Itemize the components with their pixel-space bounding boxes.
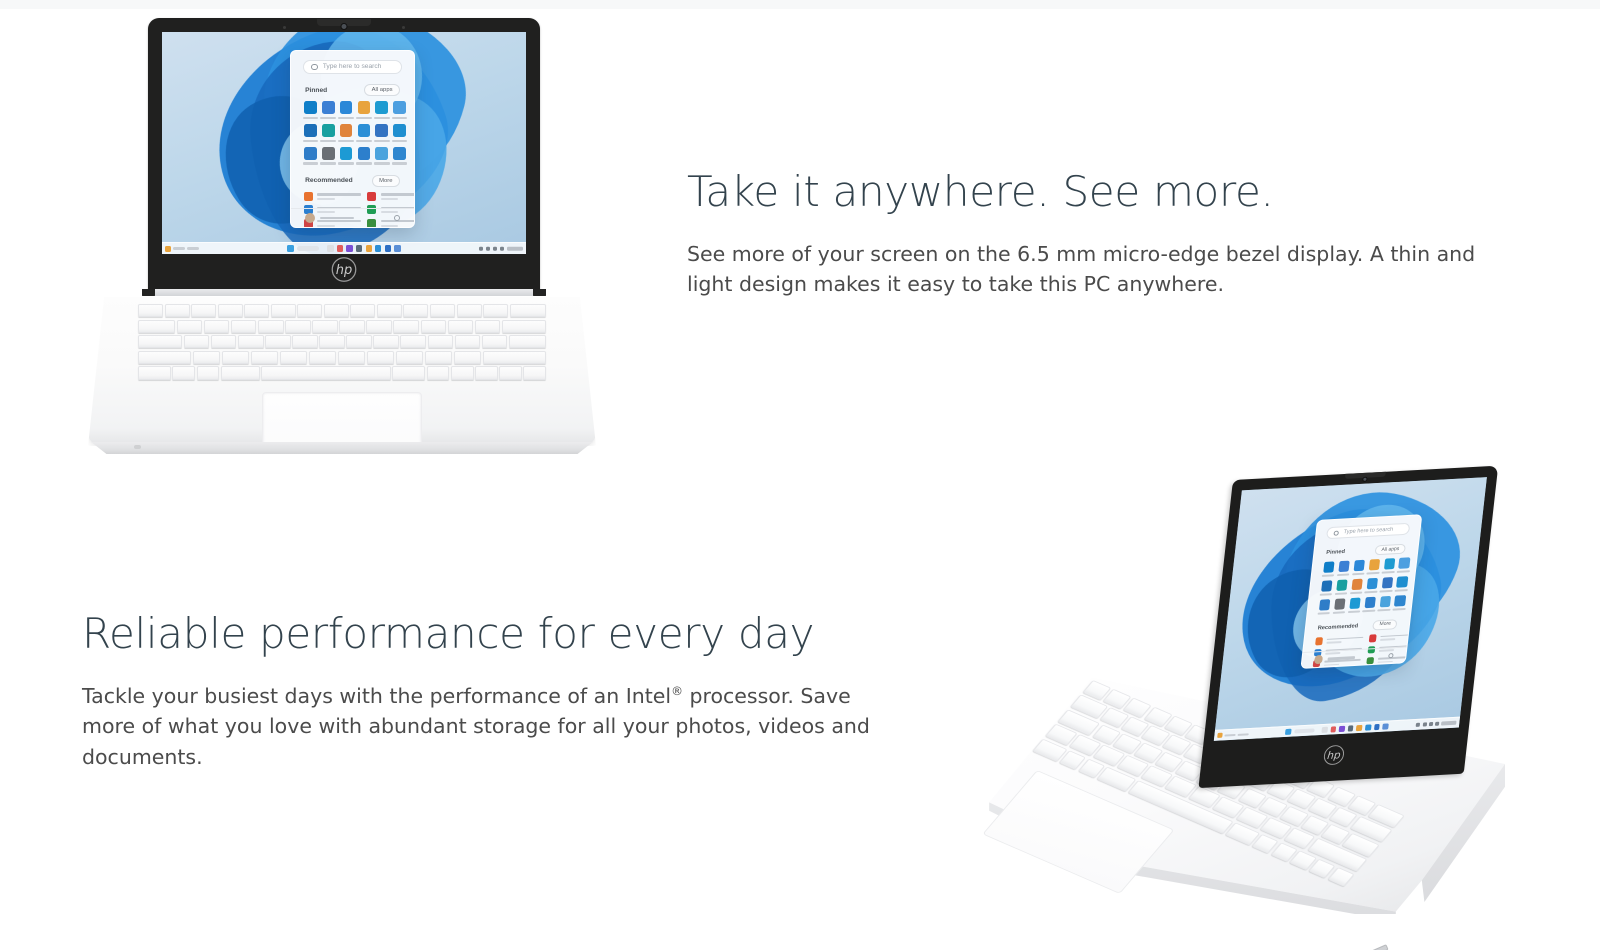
pinned-app-item[interactable] [356, 101, 371, 119]
app-icon [340, 101, 353, 114]
pinned-app-item[interactable] [303, 147, 318, 165]
search-input[interactable]: Type here to search [1326, 523, 1411, 539]
keyboard-key [430, 304, 455, 317]
app-icon [1394, 596, 1406, 607]
laptop-base-front-edge [86, 442, 598, 454]
app-label [320, 140, 335, 142]
system-tray-icon[interactable] [1429, 722, 1434, 726]
laptop-indicator-light [134, 445, 141, 449]
webcam-icon [1362, 477, 1368, 482]
weather-widget[interactable] [1225, 734, 1236, 736]
pinned-app-item[interactable] [374, 101, 389, 119]
app-label [1393, 608, 1406, 611]
taskbar-app-icon[interactable] [1321, 727, 1327, 733]
app-label [374, 117, 389, 119]
weather-widget[interactable] [187, 247, 199, 249]
app-icon [340, 147, 353, 160]
keyboard-key [346, 335, 371, 348]
laptop-screen: Type here to searchPinnedAll appsRecomme… [162, 32, 526, 254]
hdmi-port-icon [1369, 944, 1389, 950]
pinned-app-item[interactable] [1321, 562, 1336, 577]
taskbar-search-pill[interactable] [297, 246, 320, 251]
system-tray [479, 246, 523, 251]
taskbar-app-icon[interactable] [337, 245, 343, 251]
app-icon [1399, 558, 1411, 569]
app-icon [375, 147, 388, 160]
keyboard-key [483, 351, 546, 364]
laptop-keyboard [138, 304, 546, 386]
file-icon [304, 192, 313, 201]
keyboard-key [292, 335, 317, 348]
app-icon [1323, 562, 1335, 573]
file-meta [1380, 638, 1395, 641]
taskbar-widgets [165, 246, 199, 252]
recommended-item-text [317, 193, 361, 199]
keyboard-key [400, 335, 425, 348]
pinned-app-item[interactable] [392, 147, 407, 165]
keyboard-key [475, 366, 498, 379]
keyboard-key [138, 304, 163, 317]
keyboard-key [297, 304, 322, 317]
file-name [381, 193, 415, 195]
app-icon [1381, 577, 1393, 588]
app-label [1382, 571, 1395, 574]
system-tray-icon[interactable] [500, 246, 505, 251]
keyboard-key [138, 320, 175, 333]
file-meta [317, 198, 335, 200]
keyboard-key [373, 335, 398, 348]
keyboard-key [138, 366, 171, 379]
taskbar-app-icon[interactable] [375, 245, 381, 251]
pinned-app-item[interactable] [1380, 577, 1395, 592]
keyboard-key [457, 304, 482, 317]
clock[interactable] [1441, 721, 1456, 726]
keyboard-key [265, 335, 290, 348]
app-label [356, 162, 371, 164]
keyboard-row [138, 366, 546, 379]
microphone-icon [402, 26, 405, 29]
keyboard-row [138, 304, 546, 317]
app-label [1347, 611, 1360, 614]
pinned-app-item[interactable] [1350, 579, 1365, 594]
keyboard-key [193, 351, 220, 364]
taskbar-app-icon[interactable] [1285, 729, 1291, 735]
search-placeholder: Type here to search [1343, 527, 1393, 536]
pinned-app-item[interactable] [1332, 599, 1347, 614]
app-icon [375, 101, 388, 114]
section-reliable-performance: Reliable performance for every day Tackl… [82, 610, 912, 772]
keyboard-key [271, 304, 296, 317]
recommended-item[interactable] [367, 192, 415, 201]
pinned-app-item[interactable] [1347, 598, 1362, 613]
pinned-app-item[interactable] [392, 101, 407, 119]
app-icon [1349, 598, 1361, 609]
app-label [1367, 572, 1380, 575]
weather-widget[interactable] [173, 247, 185, 249]
app-icon [1338, 561, 1350, 572]
system-tray-icon[interactable] [479, 246, 484, 251]
file-name [1327, 636, 1364, 640]
user-name [320, 217, 353, 220]
keyboard-key [509, 335, 546, 348]
power-icon[interactable] [1388, 653, 1394, 659]
app-label [338, 140, 353, 142]
search-placeholder: Type here to search [323, 63, 382, 70]
hp-laptop-front-image: Type here to searchPinnedAll appsRecomme… [86, 4, 598, 459]
app-icon [1351, 579, 1363, 590]
keyboard-key [231, 320, 256, 333]
app-label [1365, 591, 1378, 594]
app-icon [322, 101, 335, 114]
start-menu: Type here to searchPinnedAll appsRecomme… [290, 50, 415, 228]
taskbar-widgets [1217, 731, 1249, 738]
keyboard-key [366, 320, 391, 333]
start-menu-section-header: RecommendedMore [305, 175, 400, 187]
app-label [1397, 570, 1410, 573]
keyboard-key [510, 304, 546, 317]
keyboard-key [448, 320, 473, 333]
taskbar-app-icon[interactable] [287, 245, 293, 251]
svg-text:hp: hp [1327, 749, 1342, 762]
app-label [1380, 590, 1393, 593]
pinned-app-item[interactable] [338, 147, 353, 165]
app-icon [304, 101, 317, 114]
taskbar-search-pill[interactable] [1294, 728, 1315, 734]
app-icon [304, 124, 317, 137]
pinned-app-item[interactable] [374, 124, 389, 142]
pinned-app-item[interactable] [1378, 596, 1393, 611]
keyboard-key [324, 304, 349, 317]
start-menu: Type here to searchPinnedAll appsRecomme… [1300, 514, 1422, 669]
app-label [392, 117, 407, 119]
app-label [1336, 574, 1349, 577]
search-icon [1333, 530, 1339, 536]
app-icon [1366, 578, 1378, 589]
registered-trademark-mark: ® [671, 684, 683, 698]
hp-logo: hp [332, 257, 357, 282]
keyboard-key [502, 320, 546, 333]
app-icon [393, 101, 406, 114]
pinned-app-item[interactable] [303, 124, 318, 142]
pinned-app-item[interactable] [1382, 559, 1397, 574]
app-label [1363, 610, 1376, 613]
system-tray-icon[interactable] [486, 246, 491, 251]
keyboard-key [454, 351, 481, 364]
body-text-prefix: Tackle your busiest days with the perfor… [82, 684, 671, 708]
app-icon [1336, 580, 1348, 591]
app-icon [322, 147, 335, 160]
file-meta [1326, 641, 1341, 644]
keyboard-key [392, 366, 425, 379]
taskbar-app-icon[interactable] [1347, 725, 1353, 731]
keyboard-key [428, 335, 453, 348]
pinned-app-item[interactable] [392, 124, 407, 142]
pinned-app-item[interactable] [1365, 578, 1380, 593]
keyboard-key [138, 351, 191, 364]
keyboard-key [451, 366, 474, 379]
taskbar-app-icon[interactable] [1365, 725, 1371, 731]
keyboard-key [396, 351, 423, 364]
keyboard-key [222, 351, 249, 364]
keyboard-key [350, 304, 375, 317]
app-icon [358, 147, 371, 160]
power-icon[interactable] [394, 215, 400, 221]
app-label [1350, 592, 1363, 595]
keyboard-row [138, 320, 546, 333]
app-label [303, 162, 318, 164]
laptop-ports [1303, 924, 1439, 950]
taskbar-icons [1285, 724, 1389, 735]
taskbar-app-icon[interactable] [1374, 724, 1380, 730]
taskbar-app-icon[interactable] [394, 245, 400, 251]
pinned-app-item[interactable] [1397, 558, 1412, 573]
pinned-app-item[interactable] [1317, 600, 1332, 615]
app-label [392, 162, 407, 164]
pinned-app-item[interactable] [1395, 577, 1410, 592]
system-tray [1416, 721, 1457, 727]
keyboard-key [251, 351, 278, 364]
svg-text:hp: hp [336, 263, 353, 278]
app-label [1319, 593, 1332, 596]
app-label [320, 117, 335, 119]
start-menu-section-header: PinnedAll apps [1326, 544, 1407, 559]
app-label [356, 117, 371, 119]
taskbar-app-icon[interactable] [385, 245, 391, 251]
pinned-app-item[interactable] [1334, 580, 1349, 595]
more-button[interactable]: More [372, 175, 400, 187]
system-tray-icon[interactable] [1435, 722, 1440, 726]
keyboard-key [427, 366, 450, 379]
product-feature-page: Type here to searchPinnedAll appsRecomme… [0, 0, 1600, 950]
weather-widget[interactable] [1217, 733, 1223, 739]
page-title: Take it anywhere. See more. [687, 168, 1507, 215]
laptop-lid: Type here to searchPinnedAll appsRecomme… [1191, 466, 1499, 858]
taskbar [162, 242, 526, 254]
pinned-app-item[interactable] [338, 101, 353, 119]
file-icon [1368, 635, 1376, 643]
app-label [303, 117, 318, 119]
weather-widget[interactable] [165, 246, 171, 252]
recommended-label: Recommended [305, 177, 353, 184]
app-icon [1321, 581, 1333, 592]
pinned-app-item[interactable] [1319, 581, 1334, 596]
app-label [338, 117, 353, 119]
pinned-app-item[interactable] [1367, 559, 1382, 574]
keyboard-key [244, 304, 269, 317]
windows-desktop: Type here to searchPinnedAll appsRecomme… [1214, 477, 1487, 741]
recommended-item[interactable] [304, 192, 361, 201]
keyboard-key [258, 320, 283, 333]
app-icon [375, 124, 388, 137]
keyboard-row [138, 335, 546, 348]
pinned-label: Pinned [305, 87, 327, 94]
pinned-label: Pinned [1326, 549, 1345, 556]
taskbar-app-icon[interactable] [1356, 725, 1362, 731]
pinned-app-item[interactable] [374, 147, 389, 165]
keyboard-key [172, 366, 195, 379]
keyboard-key [280, 351, 307, 364]
start-menu-section-header: RecommendedMore [1317, 619, 1398, 634]
start-menu-section-header: PinnedAll apps [305, 84, 400, 96]
taskbar-app-icon[interactable] [366, 245, 372, 251]
app-label [1321, 575, 1334, 578]
app-label [1352, 573, 1365, 576]
keyboard-key [191, 304, 216, 317]
keyboard-key [211, 335, 236, 348]
app-icon [1319, 600, 1331, 611]
app-icon [1334, 599, 1346, 610]
app-label [374, 140, 389, 142]
keyboard-key [523, 366, 546, 379]
section-take-it-anywhere: Take it anywhere. See more. See more of … [687, 168, 1507, 300]
keyboard-key [197, 366, 220, 379]
app-icon [1396, 577, 1408, 588]
all-apps-button[interactable]: All apps [1375, 544, 1407, 556]
pinned-app-item[interactable] [338, 124, 353, 142]
taskbar [1214, 717, 1460, 741]
pinned-app-item[interactable] [320, 147, 335, 165]
app-label [392, 140, 407, 142]
keyboard-key [238, 335, 263, 348]
app-icon [1379, 596, 1391, 607]
keyboard-key [425, 351, 452, 364]
user-name [1327, 656, 1355, 660]
user-account-row[interactable] [291, 208, 414, 227]
all-apps-button[interactable]: All apps [364, 84, 400, 96]
app-label [1317, 612, 1330, 615]
pinned-apps-grid [303, 101, 403, 164]
search-input[interactable]: Type here to search [303, 60, 403, 74]
app-icon [1368, 559, 1380, 570]
app-icon [358, 124, 371, 137]
keyboard-key [184, 335, 209, 348]
more-button[interactable]: More [1372, 619, 1397, 631]
hp-laptop-angled-image: Type here to searchPinnedAll appsRecomme… [985, 478, 1515, 913]
windows-desktop: Type here to searchPinnedAll appsRecomme… [162, 32, 526, 254]
pinned-app-item[interactable] [356, 124, 371, 142]
keyboard-row [138, 351, 546, 364]
app-icon [358, 101, 371, 114]
app-label [338, 162, 353, 164]
keyboard-key [367, 351, 394, 364]
keyboard-key [204, 320, 229, 333]
keyboard-key [482, 335, 507, 348]
clock[interactable] [507, 246, 524, 251]
app-label [1334, 593, 1347, 596]
file-meta [381, 198, 399, 200]
keyboard-key [455, 335, 480, 348]
app-label [356, 140, 371, 142]
microphone-icon [283, 26, 286, 29]
pinned-app-item[interactable] [320, 101, 335, 119]
pinned-app-item[interactable] [1336, 561, 1351, 576]
taskbar-app-icon[interactable] [346, 245, 352, 251]
keyboard-key [475, 320, 500, 333]
app-icon [1364, 597, 1376, 608]
recommended-item-text [381, 193, 415, 199]
app-icon [393, 147, 406, 160]
system-tray-icon[interactable] [1422, 722, 1427, 726]
app-label [1395, 589, 1408, 592]
app-icon [340, 124, 353, 137]
pinned-app-item[interactable] [303, 101, 318, 119]
keyboard-key [221, 366, 260, 379]
file-icon [367, 192, 376, 201]
recommended-label: Recommended [1317, 623, 1358, 631]
keyboard-key [483, 304, 508, 317]
laptop-lid: Type here to searchPinnedAll appsRecomme… [148, 18, 540, 293]
app-icon [1353, 560, 1365, 571]
file-name [317, 193, 361, 195]
laptop-screen: Type here to searchPinnedAll appsRecomme… [1214, 477, 1487, 741]
webcam-icon [341, 23, 348, 30]
pinned-apps-grid [1317, 558, 1407, 615]
keyboard-key [338, 351, 365, 364]
taskbar-app-icon[interactable] [1330, 726, 1336, 732]
keyboard-key [261, 366, 390, 379]
section-body-text: Tackle your busiest days with the perfor… [82, 681, 897, 772]
keyboard-key [339, 320, 364, 333]
taskbar-app-icon[interactable] [1382, 724, 1388, 730]
keyboard-key [165, 304, 190, 317]
keyboard-key [393, 320, 418, 333]
pinned-app-item[interactable] [1363, 597, 1378, 612]
app-label [374, 162, 389, 164]
keyboard-key [319, 335, 344, 348]
keyboard-key [177, 320, 202, 333]
app-icon [322, 124, 335, 137]
pinned-app-item[interactable] [356, 147, 371, 165]
system-tray-icon[interactable] [493, 246, 498, 251]
pinned-app-item[interactable] [320, 124, 335, 142]
search-icon [311, 64, 317, 70]
app-icon [1383, 559, 1395, 570]
recommended-item-text [1326, 636, 1363, 643]
app-label [303, 140, 318, 142]
keyboard-key [309, 351, 336, 364]
avatar [305, 213, 315, 223]
taskbar-app-icon[interactable] [327, 245, 333, 251]
app-label [1332, 611, 1345, 614]
taskbar-app-icon[interactable] [1339, 726, 1345, 732]
keyboard-key [377, 304, 402, 317]
section-body-text: See more of your screen on the 6.5 mm mi… [687, 239, 1499, 300]
page-title: Reliable performance for every day [82, 610, 912, 657]
system-tray-icon[interactable] [1416, 723, 1421, 727]
file-icon [1315, 638, 1323, 646]
keyboard-key [499, 366, 522, 379]
avatar [1314, 655, 1324, 664]
pinned-app-item[interactable] [1352, 560, 1367, 575]
recommended-item[interactable] [1315, 635, 1364, 645]
keyboard-key [138, 335, 182, 348]
app-label [320, 162, 335, 164]
pinned-app-item[interactable] [1393, 595, 1408, 610]
keyboard-key [403, 304, 428, 317]
keyboard-key [421, 320, 446, 333]
hp-logo: hp [1323, 745, 1345, 766]
weather-widget[interactable] [1237, 733, 1248, 735]
keyboard-key [312, 320, 337, 333]
taskbar-app-icon[interactable] [356, 245, 362, 251]
keyboard-key [218, 304, 243, 317]
app-icon [304, 147, 317, 160]
app-label [1378, 609, 1391, 612]
keyboard-key [285, 320, 310, 333]
taskbar-icons [287, 245, 400, 251]
app-icon [393, 124, 406, 137]
